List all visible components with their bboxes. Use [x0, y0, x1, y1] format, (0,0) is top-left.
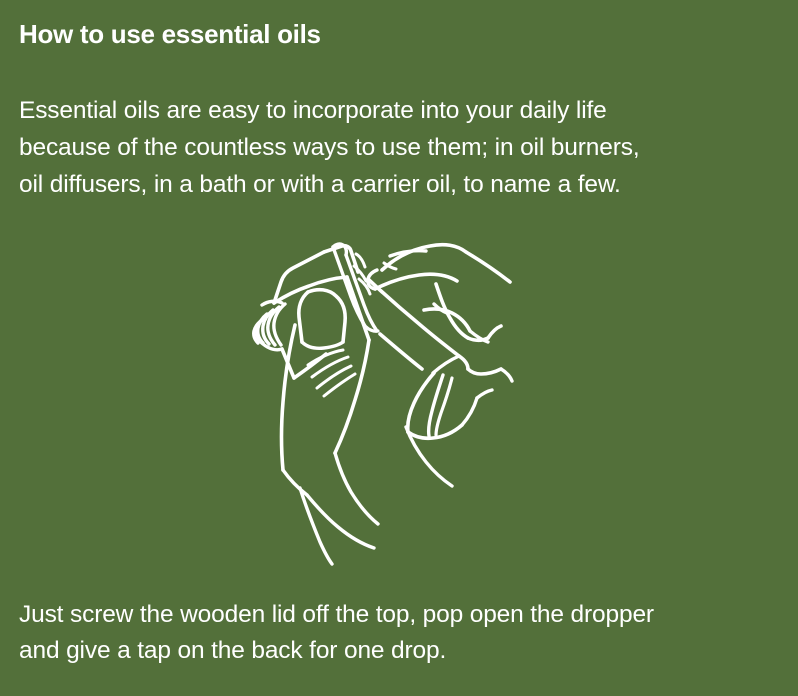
intro-line-1: Essential oils are easy to incorporate i…: [19, 92, 764, 129]
caption-paragraph: Just screw the wooden lid off the top, p…: [19, 597, 779, 669]
caption-line-1: Just screw the wooden lid off the top, p…: [19, 597, 779, 633]
knuckle-creases: [308, 350, 355, 396]
index-finger: [368, 245, 510, 289]
dropper-tip-lines: [283, 453, 378, 564]
essential-oils-info-card: How to use essential oils Essential oils…: [0, 0, 798, 696]
page-title: How to use essential oils: [19, 17, 759, 51]
lower-fingers: [406, 369, 512, 486]
intro-line-3: oil diffusers, in a bath or with a carri…: [19, 166, 764, 203]
intro-line-2: because of the countless ways to use the…: [19, 129, 764, 166]
intro-paragraph: Essential oils are easy to incorporate i…: [19, 92, 764, 203]
bottle-neck-threads: [254, 301, 285, 350]
hand-holding-dropper-bottle-icon: [238, 230, 543, 568]
caption-line-2: and give a tap on the back for one drop.: [19, 633, 779, 669]
middle-finger: [424, 284, 501, 342]
